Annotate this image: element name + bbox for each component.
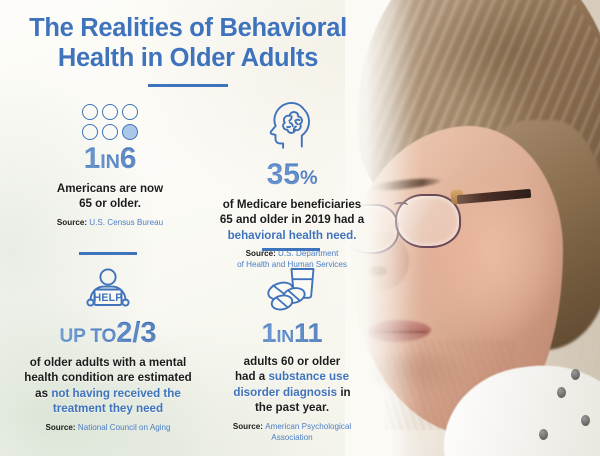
source-name: U.S. Department	[278, 249, 338, 258]
stat-source: Source: National Council on Aging	[6, 423, 210, 434]
source-name: American Psychological	[265, 422, 351, 431]
infographic-root: The Realities of Behavioral Health in Ol…	[0, 0, 600, 456]
stat-body-line: the past year.	[192, 400, 392, 415]
stat-block-1-in-6: 1IN6 Americans are now 65 or older. Sour…	[10, 104, 210, 229]
six-circles-icon	[10, 104, 210, 140]
photo-collar-dot	[557, 387, 566, 398]
circle-outline	[102, 104, 118, 120]
stat-body-line-highlight: behavioral health need.	[192, 228, 392, 243]
pills-and-water-glass-icon	[192, 262, 392, 314]
stat-headline-prefix: UP TO	[59, 326, 116, 347]
photo-glasses-temple	[457, 189, 532, 204]
circle-outline	[102, 124, 118, 140]
stat-body: Americans are now 65 or older.	[10, 181, 210, 212]
stat-headline-connector: IN	[100, 151, 119, 173]
stat-headline-denominator: 6	[120, 142, 137, 175]
stat-block-up-to-2-3: HELP UP TO2/3 of older adults with a men…	[6, 268, 210, 434]
stat-body-prefix: as	[35, 387, 48, 400]
stat-headline: 1IN11	[192, 320, 392, 347]
title-divider-rule	[148, 84, 228, 87]
stat-body: of Medicare beneficiaries 65 and older i…	[192, 197, 392, 243]
stat-block-1-in-11: 1IN11 adults 60 or older had a substance…	[192, 262, 392, 443]
content-panel: The Realities of Behavioral Health in Ol…	[0, 0, 392, 456]
source-name: U.S. Census Bureau	[89, 218, 163, 227]
page-title-line-2: Health in Older Adults	[0, 44, 376, 74]
circle-filled	[122, 124, 138, 140]
circle-outline	[82, 124, 98, 140]
circle-outline	[122, 104, 138, 120]
stat-body-line-highlight: treatment they need	[6, 401, 210, 416]
stat-headline: 1IN6	[10, 144, 210, 174]
stat-body-line: of older adults with a mental	[6, 355, 210, 370]
stat-headline-number: 1	[262, 318, 277, 348]
svg-text:HELP: HELP	[93, 292, 122, 304]
stat-headline: UP TO2/3	[6, 319, 210, 348]
stat-headline-number: 2/3	[116, 317, 156, 349]
source-name: National Council on Aging	[78, 423, 171, 432]
page-title-line-1: The Realities of Behavioral	[0, 14, 376, 44]
photo-glasses-bridge	[394, 202, 408, 210]
stat-body: of older adults with a mental health con…	[6, 355, 210, 417]
stat-body-line: had a substance use	[192, 369, 392, 384]
stat-headline-number: 1	[84, 142, 101, 175]
stat-body-line: health condition are estimated	[6, 370, 210, 385]
stat-body-line: 65 and older in 2019 had a	[192, 212, 392, 227]
source-label: Source:	[246, 249, 276, 258]
stat-block-35-percent: 35% of Medicare beneficiaries 65 and old…	[192, 100, 392, 271]
circle-outline	[82, 104, 98, 120]
head-brain-icon	[192, 100, 392, 150]
stat-source: Source: U.S. Census Bureau	[10, 218, 210, 229]
stat-body: adults 60 or older had a substance use d…	[192, 354, 392, 416]
stat-body-line: adults 60 or older	[192, 354, 392, 369]
stat-source: Source: American Psychological Associati…	[192, 422, 392, 444]
source-label: Source:	[57, 218, 87, 227]
page-title: The Realities of Behavioral Health in Ol…	[0, 14, 376, 73]
stat-body-line: disorder diagnosis in	[192, 385, 392, 400]
stat-body-line: Americans are now	[10, 181, 210, 196]
source-label: Source:	[233, 422, 263, 431]
stat-headline: 35%	[192, 160, 392, 190]
stat-body-suffix: in	[340, 386, 350, 399]
stat-body-line: of Medicare beneficiaries	[192, 197, 392, 212]
stat-headline-denominator: 11	[294, 318, 323, 348]
source-name: Association	[192, 433, 392, 444]
stat-body-highlight: disorder diagnosis	[233, 386, 337, 399]
stat-body-highlight: not having received the	[51, 387, 181, 400]
photo-collar-dot	[539, 429, 548, 440]
stat-body-line: 65 or older.	[10, 196, 210, 211]
stat-body-line: as not having received the	[6, 386, 210, 401]
stat-headline-number: 35	[267, 158, 300, 191]
stat-divider-rule	[79, 252, 137, 255]
photo-collar-dot	[581, 415, 590, 426]
stat-body-prefix: had a	[235, 370, 265, 383]
stat-headline-unit: %	[300, 167, 317, 189]
photo-collar-dot	[571, 369, 580, 380]
stat-headline-connector: IN	[277, 326, 294, 346]
source-label: Source:	[45, 423, 75, 432]
person-help-sign-icon: HELP	[6, 268, 210, 314]
stat-divider-rule	[262, 248, 320, 251]
stat-body-highlight: substance use	[268, 370, 349, 383]
